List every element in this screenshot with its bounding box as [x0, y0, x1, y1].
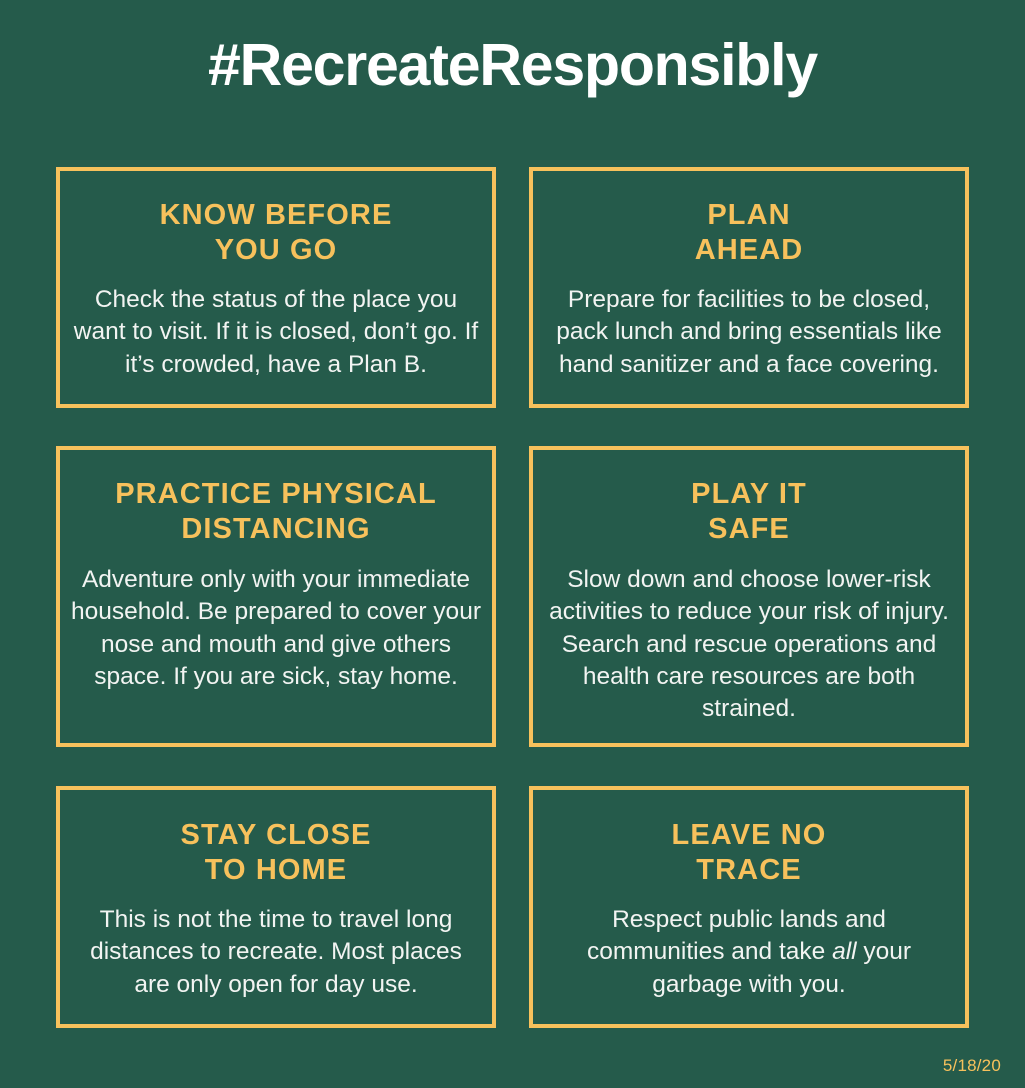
- card-heading-line2: YOU GO: [215, 234, 338, 266]
- card-practice-physical-distancing[interactable]: PRACTICE PHYSICAL DISTANCING Adventure o…: [56, 446, 496, 747]
- card-body: Prepare for facilities to be closed, pac…: [543, 284, 955, 381]
- card-body: This is not the time to travel long dist…: [70, 904, 482, 1001]
- card-heading-line1: PLAN: [707, 199, 790, 231]
- card-body-emphasis: all: [832, 938, 857, 965]
- card-heading-line2: AHEAD: [695, 234, 804, 266]
- card-heading-line1: KNOW BEFORE: [160, 199, 393, 231]
- page-title: #RecreateResponsibly: [0, 36, 1025, 95]
- poster-canvas: #RecreateResponsibly KNOW BEFORE YOU GO …: [0, 0, 1025, 1088]
- card-heading-line1: PLAY IT: [691, 478, 807, 510]
- grid-row-3: STAY CLOSE TO HOME This is not the time …: [56, 786, 969, 1028]
- card-heading: LEAVE NO TRACE: [543, 818, 955, 888]
- card-heading: STAY CLOSE TO HOME: [70, 818, 482, 888]
- card-body: Adventure only with your immediate house…: [70, 564, 482, 693]
- card-plan-ahead[interactable]: PLAN AHEAD Prepare for facilities to be …: [529, 167, 969, 408]
- card-body: Slow down and choose lower-risk activiti…: [543, 564, 955, 726]
- card-heading: KNOW BEFORE YOU GO: [70, 198, 482, 268]
- card-body: Respect public lands and communities and…: [543, 904, 955, 1001]
- card-heading-line2: TO HOME: [205, 854, 348, 886]
- card-body: Check the status of the place you want t…: [70, 284, 482, 381]
- grid-row-2: PRACTICE PHYSICAL DISTANCING Adventure o…: [56, 446, 969, 747]
- guidelines-grid: KNOW BEFORE YOU GO Check the status of t…: [56, 167, 969, 1028]
- card-heading-line1: PRACTICE PHYSICAL: [115, 478, 437, 510]
- card-leave-no-trace[interactable]: LEAVE NO TRACE Respect public lands and …: [529, 786, 969, 1028]
- card-heading: PRACTICE PHYSICAL DISTANCING: [70, 477, 482, 547]
- card-heading-line1: STAY CLOSE: [181, 819, 372, 851]
- card-heading: PLAN AHEAD: [543, 198, 955, 268]
- card-heading: PLAY IT SAFE: [543, 477, 955, 547]
- card-heading-line2: TRACE: [696, 854, 801, 886]
- date-stamp: 5/18/20: [943, 1057, 1001, 1074]
- card-know-before-you-go[interactable]: KNOW BEFORE YOU GO Check the status of t…: [56, 167, 496, 408]
- grid-row-1: KNOW BEFORE YOU GO Check the status of t…: [56, 167, 969, 408]
- card-heading-line1: LEAVE NO: [672, 819, 827, 851]
- card-stay-close-to-home[interactable]: STAY CLOSE TO HOME This is not the time …: [56, 786, 496, 1028]
- card-heading-line2: DISTANCING: [181, 513, 370, 545]
- card-heading-line2: SAFE: [708, 513, 790, 545]
- card-play-it-safe[interactable]: PLAY IT SAFE Slow down and choose lower-…: [529, 446, 969, 747]
